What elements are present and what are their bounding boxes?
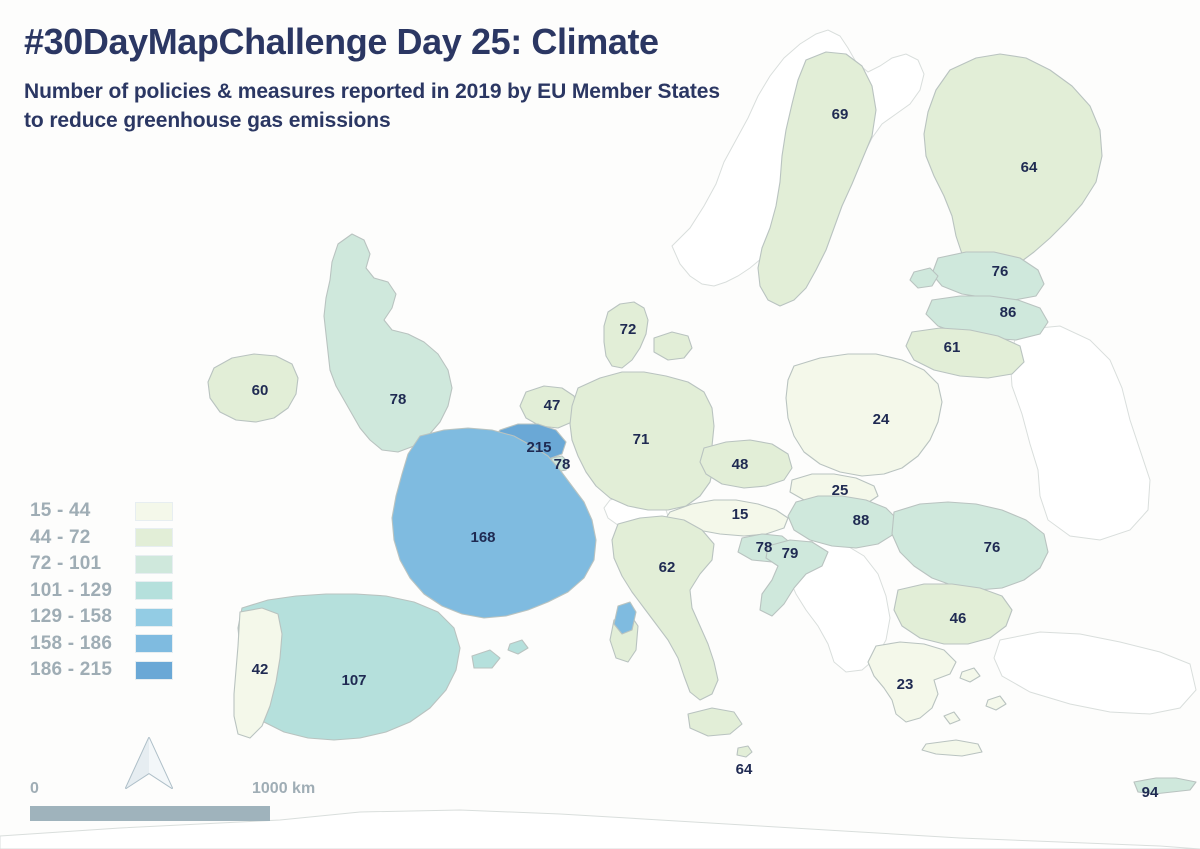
scale-bar-min-label: 0	[30, 780, 39, 798]
legend-label: 15 - 44	[30, 500, 135, 522]
legend-row: 129 - 158	[30, 604, 173, 631]
scale-bar-labels: 0 1000 km	[30, 780, 330, 802]
legend-label: 72 - 101	[30, 553, 135, 575]
map-legend: 15 - 4444 - 7272 - 101101 - 129129 - 158…	[30, 498, 173, 684]
legend-row: 186 - 215	[30, 657, 173, 684]
country-value-label: 78	[756, 539, 773, 556]
country-shape-eastern-neighbours	[1010, 326, 1150, 540]
legend-swatch	[135, 502, 173, 521]
country-value-label: 215	[526, 439, 551, 456]
country-value-label: 24	[873, 411, 890, 428]
legend-label: 101 - 129	[30, 580, 135, 602]
country-shape-finland	[924, 54, 1102, 274]
country-value-label: 71	[633, 431, 650, 448]
legend-swatch	[135, 581, 173, 600]
country-value-label: 94	[1142, 784, 1159, 801]
country-value-label: 69	[832, 106, 849, 123]
country-value-label: 76	[992, 263, 1009, 280]
europe-choropleth-map: 6964768661726078472157871244825158878797…	[0, 0, 1200, 849]
legend-label: 129 - 158	[30, 606, 135, 628]
country-value-label: 168	[470, 529, 495, 546]
country-value-label: 25	[832, 482, 849, 499]
legend-row: 44 - 72	[30, 525, 173, 552]
country-shape-denmark-islands	[654, 332, 692, 360]
country-shape-italy-sicily	[688, 708, 742, 736]
country-value-label: 64	[736, 761, 753, 778]
country-shape-greece-crete	[922, 740, 982, 756]
scale-bar-max-label: 1000 km	[252, 780, 315, 798]
country-value-label: 42	[252, 661, 269, 678]
country-shape-romania	[892, 502, 1048, 590]
country-value-label: 23	[897, 676, 914, 693]
country-shape-estonia	[932, 252, 1044, 300]
country-shape-greece-aegean-islands	[944, 668, 1006, 724]
country-value-label: 78	[390, 391, 407, 408]
legend-row: 101 - 129	[30, 578, 173, 605]
scale-bar-track	[30, 806, 270, 821]
legend-row: 15 - 44	[30, 498, 173, 525]
country-shape-spain-balearics	[472, 640, 528, 668]
legend-swatch	[135, 661, 173, 680]
country-value-label: 47	[544, 397, 561, 414]
country-value-label: 60	[252, 382, 269, 399]
country-shape-hungary	[788, 496, 898, 548]
country-shape-malta	[737, 746, 752, 757]
country-shape-united-kingdom	[324, 234, 452, 452]
scale-bar: 0 1000 km	[30, 780, 330, 821]
country-value-label: 48	[732, 456, 749, 473]
country-shape-poland	[786, 354, 942, 476]
legend-swatch	[135, 634, 173, 653]
country-value-label: 76	[984, 539, 1001, 556]
legend-swatch	[135, 555, 173, 574]
country-value-label: 61	[944, 339, 961, 356]
legend-label: 44 - 72	[30, 527, 135, 549]
country-value-label: 107	[341, 672, 366, 689]
legend-label: 186 - 215	[30, 659, 135, 681]
country-value-label: 72	[620, 321, 637, 338]
legend-swatch	[135, 608, 173, 627]
legend-row: 158 - 186	[30, 631, 173, 658]
legend-swatch	[135, 528, 173, 547]
country-value-label: 79	[782, 545, 799, 562]
country-value-label: 78	[554, 456, 571, 473]
country-value-label: 15	[732, 506, 749, 523]
country-value-label: 62	[659, 559, 676, 576]
country-value-label: 64	[1021, 159, 1038, 176]
legend-row: 72 - 101	[30, 551, 173, 578]
country-shape-turkey	[994, 632, 1196, 714]
country-value-label: 86	[1000, 304, 1017, 321]
legend-label: 158 - 186	[30, 633, 135, 655]
map-canvas: 6964768661726078472157871244825158878797…	[0, 0, 1200, 849]
country-value-label: 46	[950, 610, 967, 627]
country-value-label: 88	[853, 512, 870, 529]
